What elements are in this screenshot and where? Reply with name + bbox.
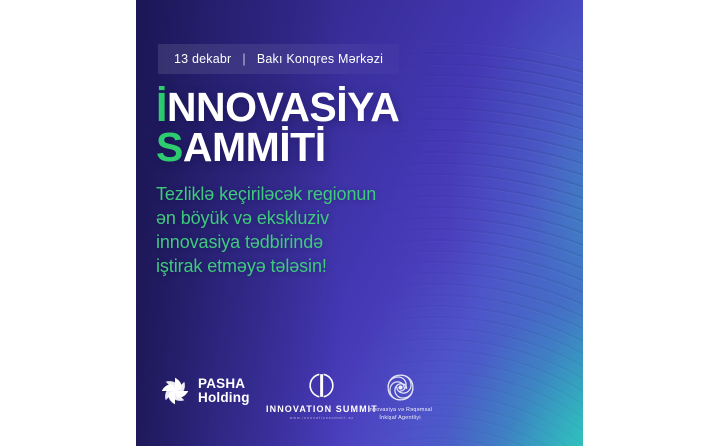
poster-headline: İNNOVASİYA SAMMİTİ xyxy=(156,88,399,168)
innovation-summit-subtitle: www.innovationsummit.az xyxy=(290,416,354,420)
body-line-4: iştirak etməyə tələsin! xyxy=(156,255,376,279)
event-date-venue-bar: 13 dekabr | Bakı Konqres Mərkəzi xyxy=(158,44,399,74)
date-venue-separator: | xyxy=(242,52,245,66)
poster-content: 13 dekabr | Bakı Konqres Mərkəzi İNNOVAS… xyxy=(136,0,583,446)
body-line-3: innovasiya tədbirində xyxy=(156,231,376,255)
agency-line-1: İnnovasiya və Rəqəmsal xyxy=(368,407,432,415)
agency-wordmark: İnnovasiya və Rəqəmsal İnkişaf Agentliyi xyxy=(368,407,432,423)
screenshot-canvas: 13 dekabr | Bakı Konqres Mərkəzi İNNOVAS… xyxy=(0,0,720,446)
body-line-1: Tezliklə keçiriləcək regionun xyxy=(156,183,376,207)
agency-rosette-icon xyxy=(385,372,416,403)
pasha-holding-wordmark: PASHA Holding xyxy=(198,377,250,406)
headline-accent-letter-2: S xyxy=(156,124,183,170)
logo-pasha-holding: PASHA Holding xyxy=(160,376,250,406)
logo-innovation-summit: INNOVATION SUMMIT www.innovationsummit.a… xyxy=(266,372,378,420)
event-venue: Bakı Konqres Mərkəzi xyxy=(257,52,383,66)
innovation-summit-title: INNOVATION SUMMIT xyxy=(266,404,378,414)
innovation-summit-circle-icon xyxy=(308,372,335,399)
pasha-pinwheel-icon xyxy=(160,376,190,406)
body-line-2: ən böyük və ekskluziv xyxy=(156,207,376,231)
headline-rest-2: AMMİTİ xyxy=(183,124,326,170)
pasha-line-2: Holding xyxy=(198,391,250,405)
event-poster: 13 dekabr | Bakı Konqres Mərkəzi İNNOVAS… xyxy=(136,0,583,446)
poster-body-copy: Tezliklə keçiriləcək regionun ən böyük v… xyxy=(156,183,376,279)
agency-line-2: İnkişaf Agentliyi xyxy=(368,415,432,423)
sponsor-logo-strip: PASHA Holding INNOVATION SUMMIT www.inno… xyxy=(136,372,583,424)
pasha-line-1: PASHA xyxy=(198,377,250,391)
logo-innovation-digital-agency: İnnovasiya və Rəqəmsal İnkişaf Agentliyi xyxy=(368,372,432,423)
event-date: 13 dekabr xyxy=(174,52,231,66)
headline-line-2: SAMMİTİ xyxy=(156,128,399,168)
headline-line-1: İNNOVASİYA xyxy=(156,88,399,128)
